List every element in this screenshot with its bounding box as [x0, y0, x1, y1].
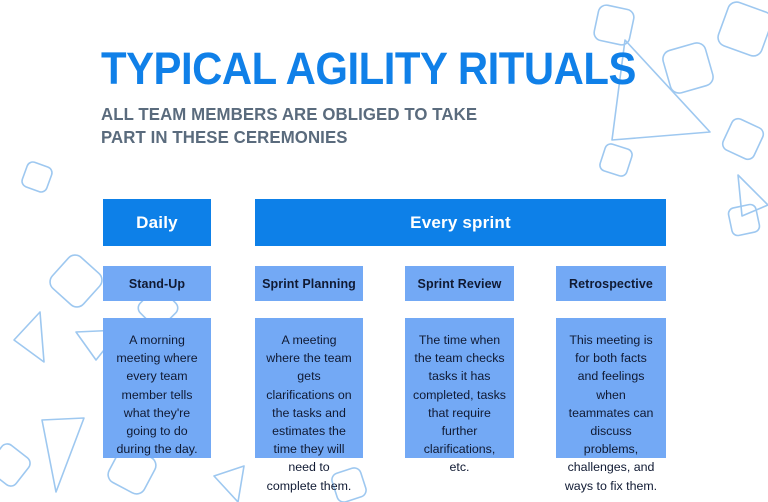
- ritual-card-retrospective: This meeting is for both facts and feeli…: [556, 318, 666, 458]
- ritual-card-sprint-review: The time when the team checks tasks it h…: [405, 318, 514, 458]
- ritual-name-sprint-review: Sprint Review: [418, 277, 502, 291]
- group-label-daily: Daily: [136, 213, 178, 233]
- ritual-description-retrospective: This meeting is for both facts and feeli…: [564, 331, 658, 495]
- page-subtitle: ALL TEAM MEMBERS ARE OBLIGED TO TAKE PAR…: [101, 103, 523, 149]
- ritual-card-stand-up: A morning meeting where every team membe…: [103, 318, 211, 458]
- ritual-description-stand-up: A morning meeting where every team membe…: [111, 331, 203, 458]
- ritual-name-stand-up: Stand-Up: [129, 277, 185, 291]
- subtitle-line-2: PART IN THESE CEREMONIES: [101, 126, 523, 149]
- ritual-chip-sprint-planning: Sprint Planning: [255, 266, 363, 301]
- subtitle-line-1: ALL TEAM MEMBERS ARE OBLIGED TO TAKE: [101, 103, 523, 126]
- ritual-name-retrospective: Retrospective: [569, 277, 653, 291]
- ritual-chip-stand-up: Stand-Up: [103, 266, 211, 301]
- group-header-every-sprint: Every sprint: [255, 199, 666, 246]
- ritual-chip-retrospective: Retrospective: [556, 266, 666, 301]
- ritual-description-sprint-review: The time when the team checks tasks it h…: [413, 331, 506, 477]
- group-label-every-sprint: Every sprint: [410, 213, 511, 233]
- ritual-card-sprint-planning: A meeting where the team gets clarificat…: [255, 318, 363, 458]
- ritual-description-sprint-planning: A meeting where the team gets clarificat…: [263, 331, 355, 495]
- infographic-canvas: TYPICAL AGILITY RITUALS ALL TEAM MEMBERS…: [0, 0, 768, 502]
- group-header-daily: Daily: [103, 199, 211, 246]
- ritual-name-sprint-planning: Sprint Planning: [262, 277, 356, 291]
- page-title: TYPICAL AGILITY RITUALS: [101, 44, 636, 94]
- ritual-chip-sprint-review: Sprint Review: [405, 266, 514, 301]
